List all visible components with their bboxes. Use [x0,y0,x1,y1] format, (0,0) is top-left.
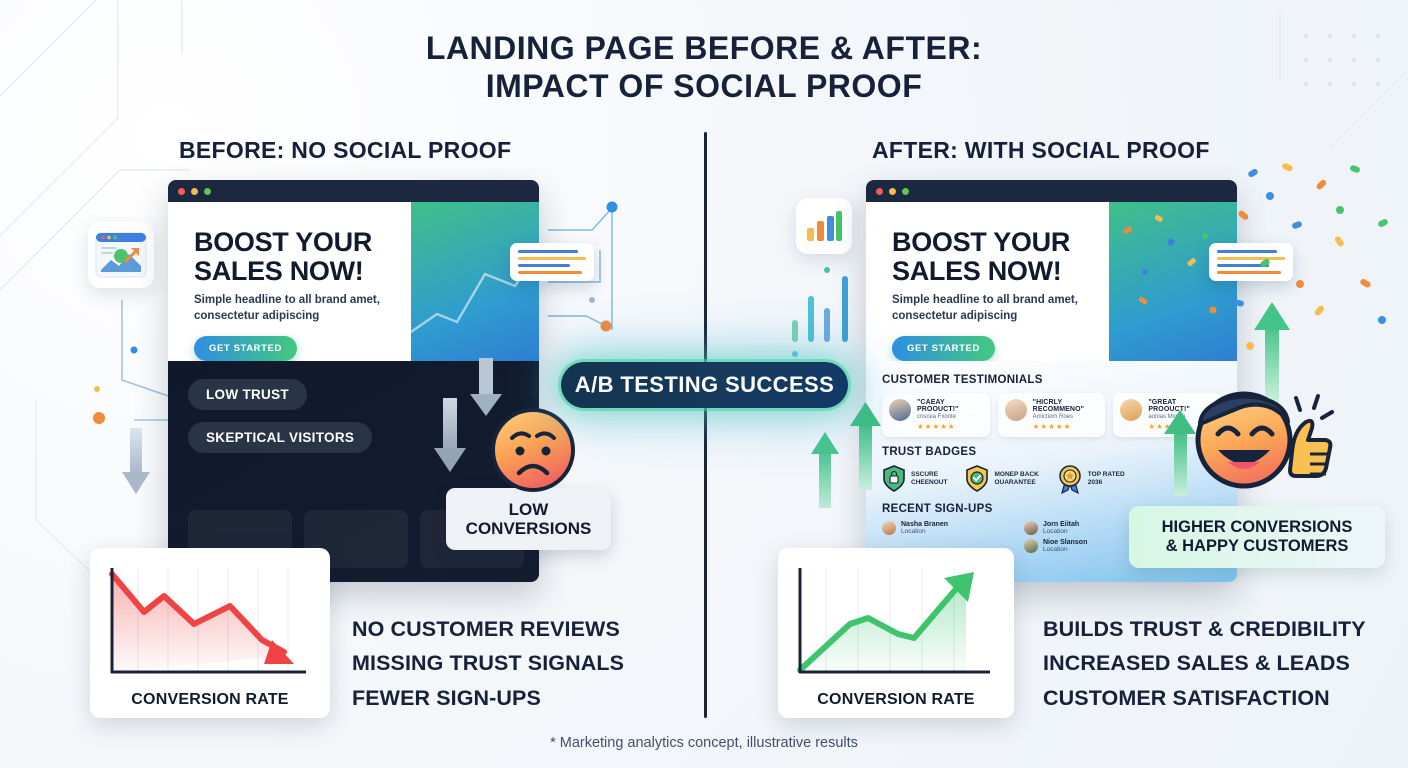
trust-badge-secure-checkout: SSCURE CHEENOUT [882,465,947,493]
bar-chart-icon [796,198,852,254]
before-bullet-list: NO CUSTOMER REVIEWS MISSING TRUST SIGNAL… [352,612,624,715]
before-down-arrow-inner [430,398,470,476]
page-title: LANDING PAGE BEFORE & AFTER: IMPACT OF S… [0,30,1408,106]
page-title-line2: IMPACT OF SOCIAL PROOF [0,68,1408,106]
after-hero-headline: BOOST YOUR SALES NOW! [892,228,1109,285]
before-bullet-2: MISSING TRUST SIGNALS [352,646,624,680]
after-bullet-list: BUILDS TRUST & CREDIBILITY INCREASED SAL… [1043,612,1366,715]
ab-testing-success-badge: A/B TESTING SUCCESS [561,362,848,408]
avatar [1005,399,1027,421]
after-hero-subhead: Simple headline to all brand amet, conse… [892,293,1109,324]
after-bullet-2: INCREASED SALES & LEADS [1043,646,1366,680]
signup-item: Jorn Eiitah Location [1024,521,1144,535]
window-minimize-dot [191,188,198,195]
analytics-card-icon [88,222,154,288]
window-minimize-dot [889,188,896,195]
before-pill-skeptical: SKEPTICAL VISITORS [188,422,372,453]
infographic-canvas: LANDING PAGE BEFORE & AFTER: IMPACT OF S… [0,0,1408,768]
signup-name: Nioe Slanson [1043,539,1087,546]
badge-line2: 2036 [1088,479,1102,486]
badge-line2: CHEENOUT [911,479,947,486]
star-rating: ★★★★★ [917,422,983,431]
trust-badge-top-rated: TOP RATED 2036 [1057,464,1125,494]
after-hero-section: BOOST YOUR SALES NOW! Simple headline to… [866,202,1237,361]
trust-badge-money-back: MONEP BACK OUARANTEE [965,465,1038,493]
before-hero-section: BOOST YOUR SALES NOW! Simple headline to… [168,202,539,361]
badge-line2: OUARANTEE [994,479,1035,486]
signup-item: Nioe Slanson Location [1024,539,1144,553]
testimonial-quote: "CAEAY PROOUCT!" [917,399,983,413]
before-pill-low-trust: LOW TRUST [188,379,307,410]
before-bullet-3: FEWER SIGN-UPS [352,681,624,715]
after-panel-heading: AFTER: WITH SOCIAL PROOF [872,137,1210,164]
window-close-dot [178,188,185,195]
shield-check-icon [965,465,989,493]
testimonial-quote: "HICRLY RECOMMENO" [1033,399,1099,413]
customer-testimonials-label: CUSTOMER TESTIMONIALS [882,374,1221,386]
before-browser-titlebar [168,180,539,202]
avatar [1024,521,1038,535]
before-floating-chat-card [510,243,594,281]
after-conversion-line-chart [790,560,1000,684]
badge-line1: SSCURE [911,471,938,478]
after-up-arrow-left [810,430,840,510]
signup-item: Nasha Branen Location [882,521,1002,535]
signup-name: Nasha Branen [901,521,948,528]
testimonial-card: "HICRLY RECOMMENO" Amictiom Roes ★★★★★ [998,393,1106,437]
shield-lock-icon [882,465,906,493]
before-panel-heading: BEFORE: NO SOCIAL PROOF [179,137,511,164]
after-hero-graphic [1109,202,1237,361]
before-hero-subhead: Simple headline to all brand amet, conse… [194,293,411,324]
before-hero-graphic [411,202,539,361]
after-get-started-button[interactable]: GET STARTED [892,336,995,361]
after-up-arrow-inner [848,400,882,492]
before-hero-headline: BOOST YOUR SALES NOW! [194,228,411,285]
star-rating: ★★★★★ [1033,422,1099,431]
signup-location: Location [901,528,948,535]
after-higher-conversions-callout: HIGHER CONVERSIONS& HAPPY CUSTOMERS [1129,506,1385,568]
avatar [1024,539,1038,553]
happy-face-thumbs-up-emoji [1188,382,1334,499]
sad-face-emoji [488,405,578,500]
signup-location: Location [1043,528,1079,535]
before-get-started-button[interactable]: GET STARTED [194,336,297,361]
page-title-line1: LANDING PAGE BEFORE & AFTER: [0,30,1408,68]
before-conversion-chart-card: CONVERSION RATE [90,548,330,718]
after-conversion-chart-card: CONVERSION RATE [778,548,1014,718]
badge-line1: MONEP BACK [994,471,1038,478]
before-conversion-line-chart [102,560,316,684]
avatar [882,521,896,535]
avatar [1120,399,1142,421]
signup-name: Jorn Eiitah [1043,521,1079,528]
before-bullet-1: NO CUSTOMER REVIEWS [352,612,624,646]
badge-line1: TOP RATED [1088,471,1125,478]
avatar [889,399,911,421]
center-divider [704,132,707,718]
window-maximize-dot [902,188,909,195]
after-bullet-3: CUSTOMER SATISFACTION [1043,681,1366,715]
window-maximize-dot [204,188,211,195]
before-down-arrow-left [120,428,152,498]
after-bullet-1: BUILDS TRUST & CREDIBILITY [1043,612,1366,646]
after-chart-caption: CONVERSION RATE [790,691,1002,709]
testimonial-name: cnscea Fxonte [917,414,983,420]
testimonial-name: Amictiom Roes [1033,414,1099,420]
after-browser-titlebar [866,180,1237,202]
window-close-dot [876,188,883,195]
signup-location: Location [1043,546,1087,553]
before-chart-caption: CONVERSION RATE [102,691,318,709]
footnote: * Marketing analytics concept, illustrat… [0,735,1408,751]
medal-icon [1057,464,1083,494]
testimonial-card: "CAEAY PROOUCT!" cnscea Fxonte ★★★★★ [882,393,990,437]
